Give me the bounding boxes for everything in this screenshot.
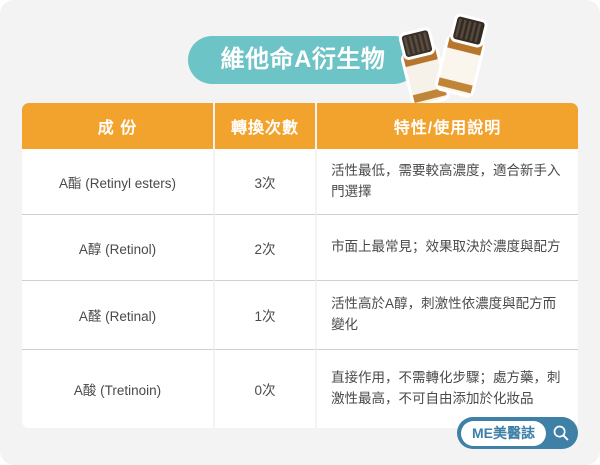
logo-badge[interactable]: ME美醫誌: [457, 417, 578, 449]
cell-ingredient: A醛 (Retinal): [22, 281, 215, 350]
cell-ingredient: A酸 (Tretinoin): [22, 350, 215, 428]
vitamin-a-derivatives-table: 成 份 轉換次數 特性/使用說明 A酯 (Retinyl esters) 3次 …: [22, 103, 578, 428]
logo-text: ME美醫誌: [461, 421, 546, 446]
table-row: A醇 (Retinol) 2次 市面上最常見；效果取決於濃度與配方: [22, 215, 578, 281]
cell-conversion-steps: 2次: [215, 215, 317, 281]
cell-ingredient: A醇 (Retinol): [22, 215, 215, 281]
page-title: 維他命A衍生物: [188, 36, 418, 84]
cell-properties: 活性高於A醇，刺激性依濃度與配方而變化: [317, 281, 578, 350]
table-row: A醛 (Retinal) 1次 活性高於A醇，刺激性依濃度與配方而變化: [22, 281, 578, 350]
cell-properties: 市面上最常見；效果取決於濃度與配方: [317, 215, 578, 281]
cell-ingredient: A酯 (Retinyl esters): [22, 149, 215, 215]
cell-conversion-steps: 1次: [215, 281, 317, 350]
column-header-properties: 特性/使用說明: [317, 103, 578, 149]
table-header: 成 份 轉換次數 特性/使用說明: [22, 103, 578, 149]
table-header-row: 成 份 轉換次數 特性/使用說明: [22, 103, 578, 149]
cell-conversion-steps: 0次: [215, 350, 317, 428]
column-header-conversion-steps: 轉換次數: [215, 103, 317, 149]
table-row: A酯 (Retinyl esters) 3次 活性最低，需要較高濃度，適合新手入…: [22, 149, 578, 215]
cell-conversion-steps: 3次: [215, 149, 317, 215]
search-icon[interactable]: [550, 422, 572, 444]
title-banner: 維他命A衍生物: [0, 30, 600, 92]
table-body: A酯 (Retinyl esters) 3次 活性最低，需要較高濃度，適合新手入…: [22, 149, 578, 428]
infographic-root: 維他命A衍生物: [0, 0, 600, 465]
cell-properties: 活性最低，需要較高濃度，適合新手入門選擇: [317, 149, 578, 215]
column-header-ingredient: 成 份: [22, 103, 215, 149]
